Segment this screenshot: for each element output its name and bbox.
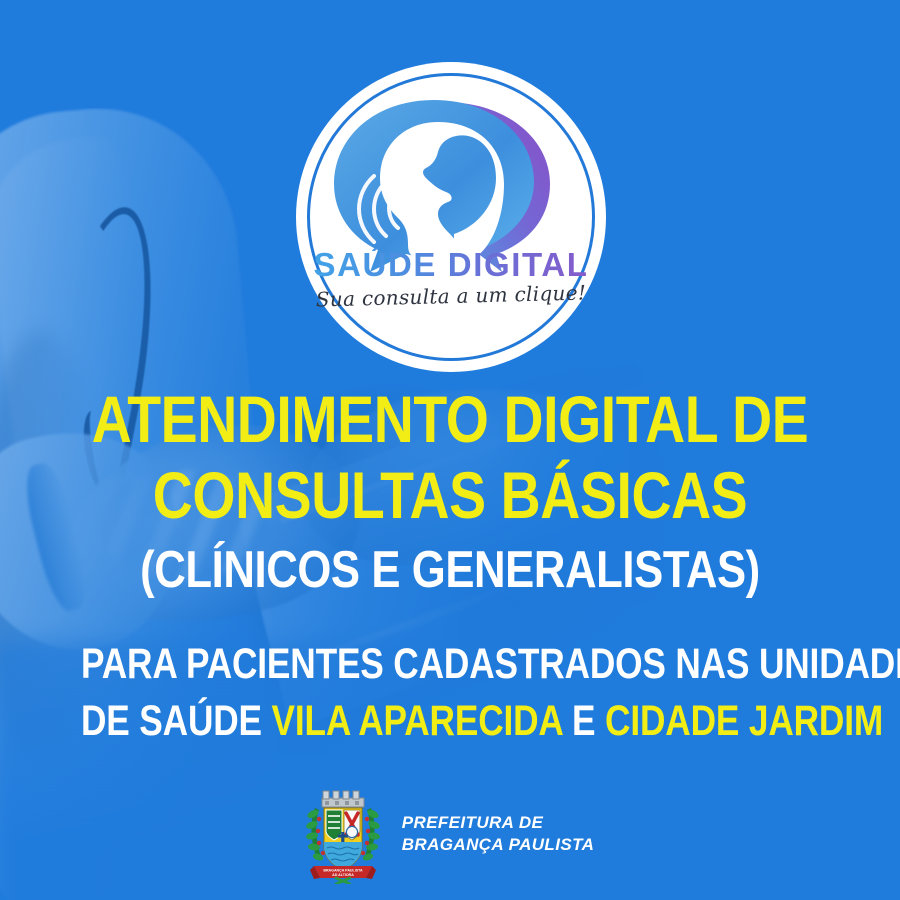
headline-line-2: CONSULTAS BÁSICAS (72, 464, 828, 526)
crest-motto-line-2: AD ALTIORA (332, 873, 354, 877)
city-hall-line-1: PREFEITURA DE (402, 812, 595, 834)
subheadline-prefix: DE SAÚDE (81, 697, 272, 745)
headline-line-3: (CLÍNICOS E GENERALISTAS) (72, 546, 828, 595)
city-hall-label: PREFEITURA DE BRAGANÇA PAULISTA (402, 812, 595, 860)
crest-motto-line-1: BRAGANÇA PAULISTA (323, 868, 363, 872)
subheadline-line-2: DE SAÚDE VILA APARECIDA E CIDADE JARDIM (81, 700, 819, 743)
health-unit-1: VILA APARECIDA (272, 697, 563, 745)
subheadline-conjunction: E (562, 697, 605, 745)
headline-line-1: ATENDIMENTO DIGITAL DE (72, 388, 828, 450)
speech-bubble-head-icon (326, 92, 576, 272)
braganca-paulista-coat-of-arms-icon: BRAGANÇA PAULISTA AD ALTIORA (306, 788, 380, 884)
saude-digital-logo: SAÚDE DIGITAL Sua consulta a um clique! (296, 62, 606, 372)
subheadline-line-1: PARA PACIENTES CADASTRADOS NAS UNIDADES (81, 643, 819, 686)
health-unit-2: CIDADE JARDIM (605, 697, 883, 745)
poster-canvas: SAÚDE DIGITAL Sua consulta a um clique! … (0, 0, 900, 900)
city-hall-line-2: BRAGANÇA PAULISTA (402, 834, 595, 856)
logo-wordmark: SAÚDE DIGITAL (296, 248, 606, 281)
footer: BRAGANÇA PAULISTA AD ALTIORA PREFEITURA … (0, 786, 900, 886)
